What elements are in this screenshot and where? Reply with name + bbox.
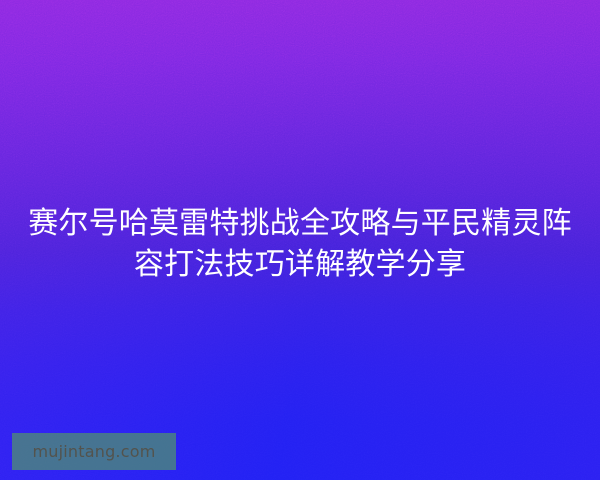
cover-title-line-2: 容打法技巧详解教学分享 — [14, 244, 586, 285]
article-cover-image: 赛尔号哈莫雷特挑战全攻略与平民精灵阵 容打法技巧详解教学分享 mujintang… — [0, 0, 600, 480]
cover-title: 赛尔号哈莫雷特挑战全攻略与平民精灵阵 容打法技巧详解教学分享 — [0, 203, 600, 285]
cover-title-line-1: 赛尔号哈莫雷特挑战全攻略与平民精灵阵 — [14, 203, 586, 244]
watermark-badge: mujintang.com — [12, 433, 176, 470]
watermark-site-label: mujintang.com — [33, 444, 156, 460]
